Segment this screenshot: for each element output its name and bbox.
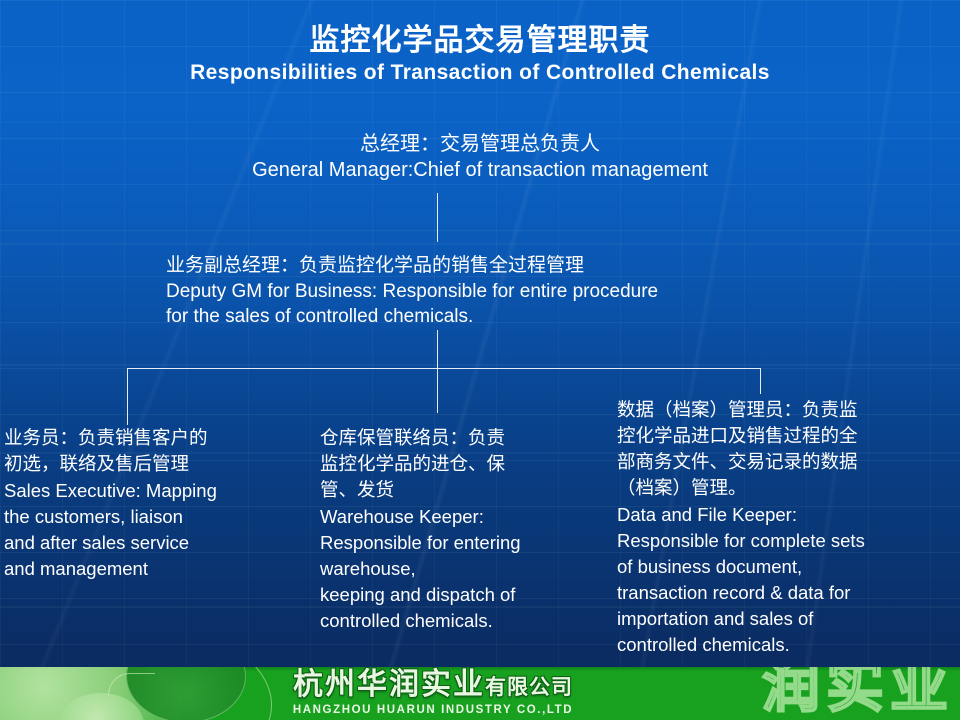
company-logo-en: HANGZHOU HUARUN INDUSTRY CO.,LTD (198, 704, 668, 716)
background-band-1 (0, 122, 960, 123)
footer-decor-circle-small (58, 693, 144, 720)
footer-decor-stem (108, 673, 155, 696)
company-logo-cn-suffix: 有限公司 (485, 675, 573, 699)
org-node-general-manager: 总经理：交易管理总负责人 General Manager:Chief of tr… (0, 130, 960, 184)
footer-watermark-text: 润实业 (762, 667, 954, 715)
warehouse-keeper-cn: 仓库保管联络员：负责 监控化学品的进仓、保 管、发货 (320, 426, 612, 504)
company-logo-cn: 杭州华润实业有限公司 (198, 669, 668, 703)
sales-executive-en: Sales Executive: Mapping the customers, … (4, 478, 304, 582)
slide-title: 监控化学品交易管理职责 Responsibilities of Transact… (0, 24, 960, 85)
org-node-data-file-keeper: 数据（档案）管理员：负责监 控化学品进口及销售过程的全 部商务文件、交易记录的数… (617, 398, 957, 658)
deputy-gm-cn: 业务副总经理：负责监控化学品的销售全过程管理 (166, 252, 866, 279)
data-file-keeper-en: Data and File Keeper: Responsible for co… (617, 502, 957, 658)
sales-executive-cn: 业务员：负责销售客户的 初选，联络及售后管理 (4, 426, 304, 478)
slide-title-en: Responsibilities of Transaction of Contr… (0, 60, 960, 85)
connector-drop-sales (127, 368, 128, 425)
company-logo: 杭州华润实业有限公司 HANGZHOU HUARUN INDUSTRY CO.,… (198, 669, 668, 716)
general-manager-en: General Manager:Chief of transaction man… (0, 157, 960, 184)
connector-drop-data (760, 368, 761, 394)
general-manager-cn: 总经理：交易管理总负责人 (0, 130, 960, 157)
connector-drop-warehouse (437, 368, 438, 413)
connector-gm-to-deputy (437, 193, 438, 242)
org-node-deputy-gm: 业务副总经理：负责监控化学品的销售全过程管理 Deputy GM for Bus… (166, 252, 866, 329)
slide-title-cn: 监控化学品交易管理职责 (0, 24, 960, 58)
background-band-3 (0, 364, 960, 366)
connector-deputy-to-bus (437, 330, 438, 368)
org-node-warehouse-keeper: 仓库保管联络员：负责 监控化学品的进仓、保 管、发货 Warehouse Kee… (320, 426, 612, 634)
slide-canvas: 监控化学品交易管理职责 Responsibilities of Transact… (0, 0, 960, 720)
company-logo-cn-main: 杭州华润实业 (293, 667, 485, 702)
background-band-2 (0, 243, 960, 245)
data-file-keeper-cn: 数据（档案）管理员：负责监 控化学品进口及销售过程的全 部商务文件、交易记录的数… (617, 398, 957, 502)
deputy-gm-en: Deputy GM for Business: Responsible for … (166, 279, 866, 329)
org-node-sales-executive: 业务员：负责销售客户的 初选，联络及售后管理 Sales Executive: … (4, 426, 304, 582)
warehouse-keeper-en: Warehouse Keeper: Responsible for enteri… (320, 504, 612, 634)
connector-bus-bar (127, 368, 761, 369)
footer-brand-band: 润实业 杭州华润实业有限公司 HANGZHOU HUARUN INDUSTRY … (0, 667, 960, 720)
